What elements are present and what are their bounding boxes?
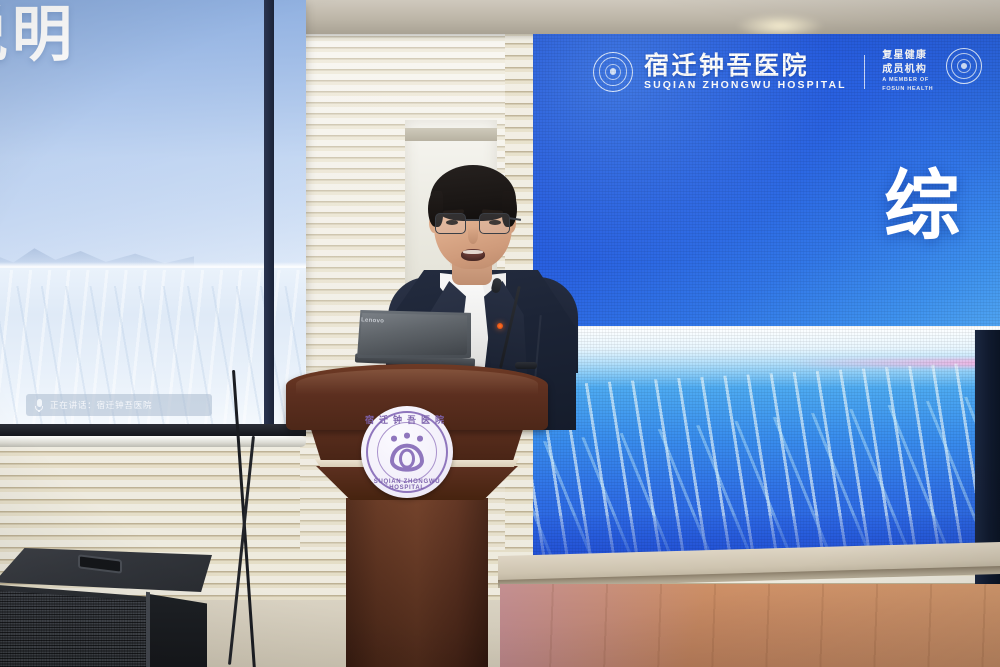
conference-hall-scene: 说明 正在讲话：宿迁钟吾医院 宿迁钟吾医院 xyxy=(0,0,1000,667)
stage-floor-plank-lines xyxy=(500,584,1000,667)
lectern-emblem-name-cn: 宿迁钟吾医院 xyxy=(361,413,453,426)
live-caption-bar: 正在讲话：宿迁钟吾医院 xyxy=(26,394,212,416)
loudspeaker-corner-edge xyxy=(146,592,150,667)
lotus-flower-icon xyxy=(387,434,427,474)
lectern-hospital-emblem: 宿迁钟吾医院 SUQIAN ZHONGWU HOSPITAL xyxy=(361,406,453,498)
presenter-nose xyxy=(468,227,478,244)
floor-loudspeaker xyxy=(0,548,218,667)
presenter-laptop[interactable]: Lenovo xyxy=(357,310,471,364)
ceiling-soffit xyxy=(300,0,1000,34)
lectern-column-shading xyxy=(346,498,488,667)
led-pixel-grain xyxy=(533,34,1000,564)
laptop-brand-label: Lenovo xyxy=(361,317,384,324)
left-screen-right-frame xyxy=(264,0,274,424)
left-projection-screen: 说明 正在讲话：宿迁钟吾医院 xyxy=(0,0,306,424)
lectern: 宿迁钟吾医院 SUQIAN ZHONGWU HOSPITAL xyxy=(286,364,548,667)
microphone-icon xyxy=(35,399,43,412)
live-caption-text: 正在讲话：宿迁钟吾医院 xyxy=(50,399,152,411)
door-header-trim xyxy=(405,128,497,141)
hospital-seal-icon-secondary xyxy=(946,48,982,84)
loudspeaker-side-panel xyxy=(149,594,207,667)
right-led-screen: 宿迁钟吾医院 SUQIAN ZHONGWU HOSPITAL 复星健康 成员机构… xyxy=(533,34,1000,564)
microphone-status-led xyxy=(497,323,503,329)
left-screen-roller-tube xyxy=(0,436,306,447)
left-screen-bottom-bar xyxy=(0,424,306,436)
presenter-mouth xyxy=(461,249,485,261)
lectern-emblem-name-en: SUQIAN ZHONGWU HOSPITAL xyxy=(361,479,453,491)
left-screen-headline: 说明 xyxy=(0,0,76,73)
lectern-desktop-sheen xyxy=(296,369,538,395)
right-screen-headline: 综 xyxy=(884,168,966,244)
